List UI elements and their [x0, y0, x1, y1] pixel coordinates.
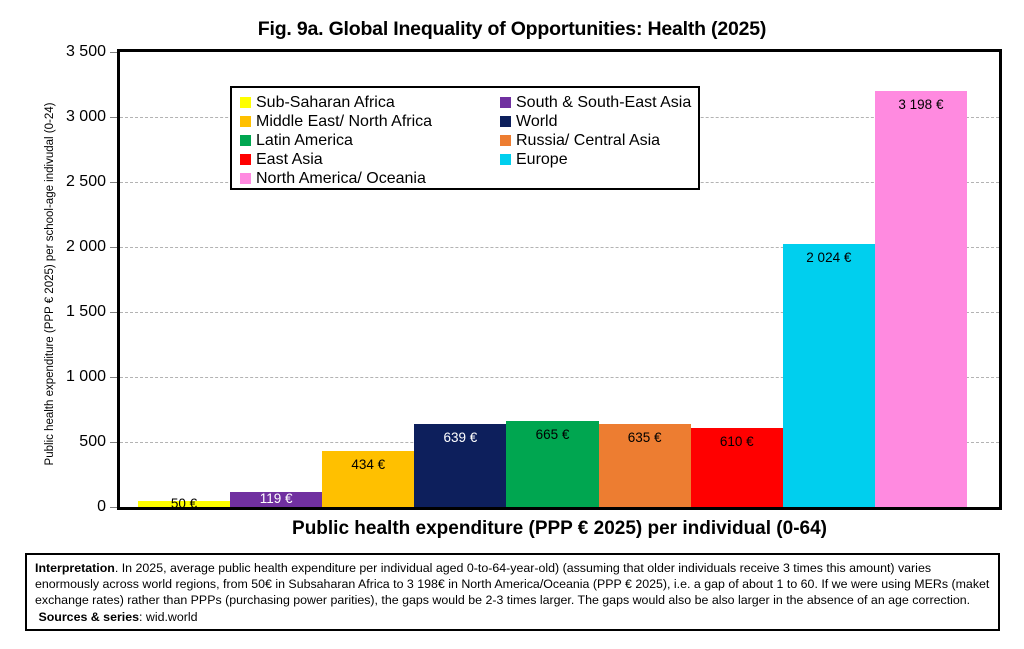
interpretation-box: Interpretation. In 2025, average public … [25, 553, 1000, 631]
bar: 635 € [599, 424, 691, 507]
y-tick-label: 1 500 [16, 303, 106, 321]
legend-item-label: East Asia [256, 151, 323, 168]
legend-item-label: Sub-Saharan Africa [256, 94, 395, 111]
bar: 3 198 € [875, 91, 967, 507]
y-tick-label: 500 [16, 433, 106, 451]
legend-column-right: South & South-East AsiaWorldRussia/ Cent… [500, 93, 691, 169]
bar-value-label: 665 € [506, 427, 598, 442]
x-axis-label: Public health expenditure (PPP € 2025) p… [117, 518, 1002, 540]
legend-item: Middle East/ North Africa [240, 112, 432, 131]
legend-item-label: Latin America [256, 132, 353, 149]
bar: 610 € [691, 428, 783, 507]
legend-item: North America/ Oceania [240, 169, 432, 188]
legend-item-label: Middle East/ North Africa [256, 113, 432, 130]
y-tick-label: 1 000 [16, 368, 106, 386]
legend-swatch-icon [240, 173, 251, 184]
legend-swatch-icon [240, 135, 251, 146]
legend-item: Sub-Saharan Africa [240, 93, 432, 112]
legend-item-label: North America/ Oceania [256, 170, 426, 187]
bar-value-label: 434 € [322, 457, 414, 472]
interpretation-text: Interpretation. In 2025, average public … [35, 560, 990, 625]
bar: 434 € [322, 451, 414, 507]
legend-swatch-icon [240, 154, 251, 165]
legend-item: Europe [500, 150, 691, 169]
legend-item: World [500, 112, 691, 131]
legend-column-left: Sub-Saharan AfricaMiddle East/ North Afr… [240, 93, 432, 188]
bar: 119 € [230, 492, 322, 507]
legend-swatch-icon [500, 135, 511, 146]
y-tick-label: 3 500 [16, 43, 106, 61]
y-tick-label: 3 000 [16, 108, 106, 126]
bar-value-label: 610 € [691, 434, 783, 449]
legend-swatch-icon [240, 116, 251, 127]
legend-item-label: World [516, 113, 558, 130]
legend-item: Latin America [240, 131, 432, 150]
bar: 50 € [138, 501, 230, 508]
bar: 639 € [414, 424, 506, 507]
legend-swatch-icon [500, 116, 511, 127]
bar-value-label: 3 198 € [875, 97, 967, 112]
legend-swatch-icon [240, 97, 251, 108]
y-tick-label: 2 000 [16, 238, 106, 256]
legend-item: South & South-East Asia [500, 93, 691, 112]
bar: 2 024 € [783, 244, 875, 507]
y-tick-label: 0 [16, 498, 106, 516]
bar-value-label: 119 € [230, 491, 322, 506]
legend-item-label: Europe [516, 151, 568, 168]
bar-value-label: 50 € [138, 496, 230, 511]
legend-item-label: South & South-East Asia [516, 94, 691, 111]
legend-item: Russia/ Central Asia [500, 131, 691, 150]
bar-value-label: 639 € [414, 430, 506, 445]
legend: Sub-Saharan AfricaMiddle East/ North Afr… [230, 86, 700, 190]
legend-item-label: Russia/ Central Asia [516, 132, 660, 149]
legend-swatch-icon [500, 154, 511, 165]
legend-swatch-icon [500, 97, 511, 108]
sources-label: Sources & series [38, 610, 139, 624]
bar-value-label: 635 € [599, 430, 691, 445]
interpretation-heading: Interpretation [35, 561, 115, 575]
bar: 665 € [506, 421, 598, 507]
legend-item: East Asia [240, 150, 432, 169]
bar-value-label: 2 024 € [783, 250, 875, 265]
sources-value: : wid.world [139, 610, 198, 624]
y-tick-label: 2 500 [16, 173, 106, 191]
